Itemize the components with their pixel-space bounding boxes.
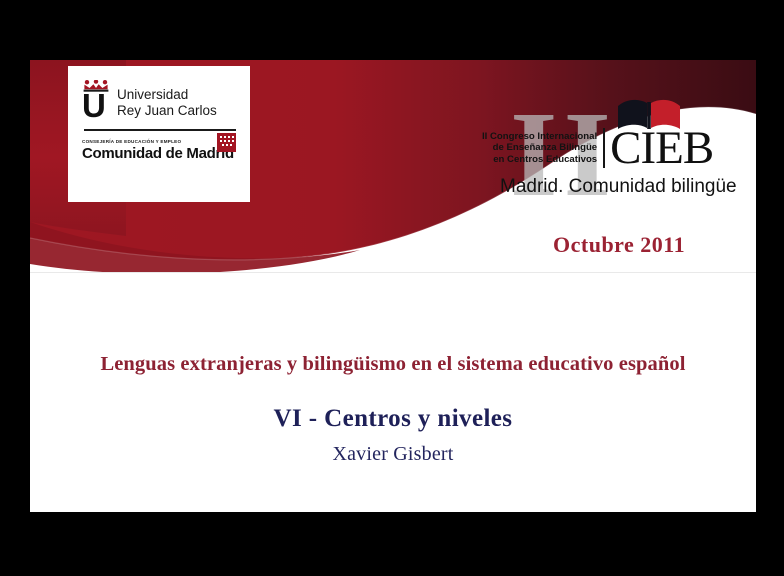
congress-date: Octubre 2011 xyxy=(553,232,685,258)
cieb-vertical-divider xyxy=(603,128,605,168)
cieb-acronym-block: CIEB xyxy=(610,126,713,170)
comunidad-madrid-logo: CONSEJERÍA DE EDUCACIÓN Y EMPLEO Comunid… xyxy=(82,139,238,162)
slide-canvas: U Universidad Rey Juan Carlos CONSEJER xyxy=(30,60,756,512)
urjc-u-letter: U xyxy=(82,92,105,120)
consejeria-label: CONSEJERÍA DE EDUCACIÓN Y EMPLEO xyxy=(82,139,238,144)
open-book-icon xyxy=(616,97,682,131)
urjc-name-line1: Universidad xyxy=(117,87,217,103)
slide-main-title: Lenguas extranjeras y bilingüismo en el … xyxy=(30,353,756,376)
urjc-name-line2: Rey Juan Carlos xyxy=(117,103,217,119)
logo-divider xyxy=(84,129,236,131)
urjc-name: Universidad Rey Juan Carlos xyxy=(117,87,217,120)
comunidad-madrid-label: Comunidad de Madrid xyxy=(82,145,238,162)
cieb-congress-logo: II II Congreso Internacional de Enseñanz… xyxy=(482,98,750,228)
slide-section-title: VI - Centros y niveles xyxy=(30,405,756,433)
presentation-viewer: U Universidad Rey Juan Carlos CONSEJER xyxy=(0,0,784,576)
slide-body: Lenguas extranjeras y bilingüismo en el … xyxy=(30,273,756,512)
cieb-acronym-text: CIEB xyxy=(610,126,713,170)
cieb-logo-main-row: II Congreso Internacional de Enseñanza B… xyxy=(482,126,713,170)
congress-name-lines: II Congreso Internacional de Enseñanza B… xyxy=(482,131,603,166)
slide-author: Xavier Gisbert xyxy=(30,443,756,466)
congress-name-line1: II Congreso Internacional xyxy=(482,131,597,143)
congress-name-line3: en Centros Educativos xyxy=(482,154,597,166)
congress-name-line2: de Enseñanza Bilingüe xyxy=(482,142,597,154)
cieb-tagline: Madrid. Comunidad bilingüe xyxy=(500,176,737,198)
madrid-shield-icon xyxy=(217,133,236,152)
urjc-logo: U Universidad Rey Juan Carlos xyxy=(82,80,238,120)
institution-logo-card: U Universidad Rey Juan Carlos CONSEJER xyxy=(68,66,250,202)
urjc-crown-u-mark: U xyxy=(82,80,110,120)
